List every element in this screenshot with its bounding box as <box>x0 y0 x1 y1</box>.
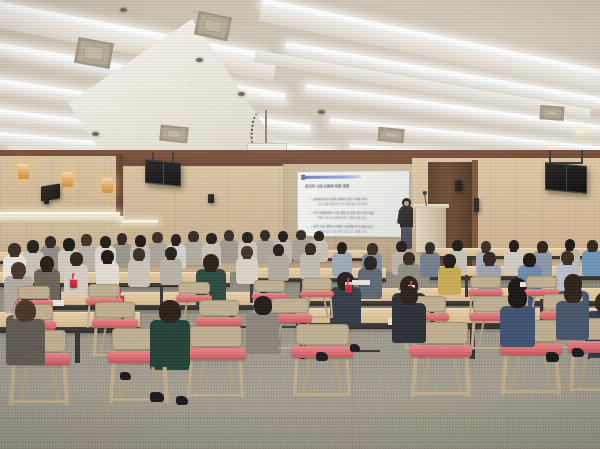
chair-seat-cushion <box>186 348 246 360</box>
shoe <box>316 352 328 361</box>
audience-member <box>64 252 88 296</box>
shoe <box>350 344 360 352</box>
chair-leg <box>477 320 485 350</box>
audience-member-torso <box>150 320 190 367</box>
chair-backrest <box>88 284 120 297</box>
desk-leg <box>75 327 80 363</box>
audience-member-head <box>561 251 574 264</box>
audience-member-head <box>63 238 75 251</box>
drink-cup <box>345 282 352 293</box>
audience-member-torso <box>268 254 289 281</box>
chair-backrest <box>95 302 135 318</box>
audience-member-torso <box>6 319 45 365</box>
audience-member-head <box>481 241 492 252</box>
audience-member-torso <box>330 287 361 326</box>
audience-member-head <box>337 242 348 253</box>
chair-leg <box>50 362 61 404</box>
audience-member-head <box>260 230 270 240</box>
audience-area <box>0 0 600 449</box>
audience-member <box>420 242 440 278</box>
audience-member-head <box>367 243 378 255</box>
chair-leg <box>195 357 205 397</box>
audience-member-head <box>11 262 27 278</box>
audience-member-foreground <box>556 284 589 344</box>
drink-cup <box>70 277 77 288</box>
audience-member-head <box>443 254 456 267</box>
audience-member-foreground <box>500 288 535 352</box>
audience-member-foreground <box>246 296 279 356</box>
chair-backrest <box>254 280 284 292</box>
handout-paper <box>352 280 370 285</box>
chair-backrest <box>18 286 50 299</box>
audience-member-head <box>305 243 316 255</box>
audience-member-head <box>70 252 83 266</box>
chair-leg <box>301 356 312 397</box>
audience-member-head <box>159 300 181 323</box>
audience-member-head <box>564 284 582 303</box>
audience-member-head <box>100 236 111 248</box>
chair-cross-brace <box>504 390 558 393</box>
audience-member-torso <box>500 306 535 348</box>
audience-member-head <box>224 230 234 241</box>
audience-member-head <box>242 232 252 243</box>
audience-member-head <box>135 235 146 247</box>
audience-member <box>268 244 289 282</box>
chair-cross-brace <box>296 393 349 396</box>
audience-member-head <box>101 250 114 263</box>
chair-backrest <box>296 324 349 345</box>
audience-member-head <box>565 239 576 250</box>
audience-member-head <box>117 233 128 244</box>
folding-chair[interactable] <box>186 326 246 399</box>
audience-member <box>160 247 182 286</box>
chair-leg <box>99 326 107 357</box>
audience-member-torso <box>392 303 426 343</box>
audience-member-head <box>425 242 436 253</box>
chair-backrest <box>199 300 239 316</box>
chair-cross-brace <box>414 392 468 395</box>
audience-member-head <box>15 300 36 322</box>
audience-member-head <box>203 254 219 271</box>
audience-member-torso <box>246 313 279 352</box>
chair-seat-cushion <box>300 291 334 298</box>
shoe <box>572 348 584 357</box>
audience-member <box>358 256 382 300</box>
audience-member-head <box>81 234 92 246</box>
chair-leg <box>118 360 129 402</box>
audience-member-head <box>152 232 163 243</box>
audience-member-head <box>165 247 177 259</box>
chair-seat-cushion <box>196 317 242 326</box>
audience-member-torso <box>300 253 320 279</box>
chair-backrest <box>190 326 242 347</box>
audience-member-foreground <box>150 300 190 372</box>
shoe <box>150 392 164 402</box>
audience-member-head <box>396 241 407 252</box>
audience-member-head <box>188 231 198 242</box>
lecture-hall-photograph: 전기차 시대 도래에 따른 영향 ○ 글로벌 완성차 업체 전동화 전환 가속화… <box>0 0 600 449</box>
audience-member-torso <box>128 259 150 287</box>
audience-member-head <box>133 248 145 261</box>
audience-member-foreground <box>6 300 45 370</box>
chair-seat-cushion <box>468 289 503 296</box>
chair-backrest <box>178 282 209 294</box>
chair-backrest <box>302 278 332 290</box>
audience-member-head <box>587 240 598 252</box>
audience-member-head <box>537 241 548 253</box>
audience-member-head <box>273 244 284 256</box>
chair-cross-brace <box>572 388 600 391</box>
audience-member-head <box>278 231 288 241</box>
chair-seat-cushion <box>92 319 138 328</box>
audience-member <box>582 240 600 277</box>
audience-member-foreground <box>392 286 426 348</box>
audience-member-head <box>452 240 463 251</box>
audience-member-head <box>171 234 182 245</box>
audience-member <box>300 243 320 280</box>
chair-backrest <box>470 276 500 288</box>
chair-leg <box>323 296 329 319</box>
audience-member-head <box>27 240 39 253</box>
chair-leg <box>333 356 344 397</box>
audience-member-head <box>403 252 415 265</box>
audience-member-head <box>296 230 306 240</box>
audience-member-head <box>314 231 324 241</box>
chair-cross-brace <box>12 400 66 403</box>
chair-backrest <box>526 276 556 288</box>
audience-member-torso <box>582 250 600 276</box>
audience-member-head <box>206 233 217 244</box>
audience-member-head <box>241 246 253 258</box>
chair-leg <box>420 354 431 396</box>
audience-member-head <box>364 256 377 270</box>
audience-member <box>438 254 461 296</box>
audience-member-torso <box>556 301 589 340</box>
audience-member-torso <box>420 252 440 277</box>
audience-member <box>128 248 150 288</box>
chair-leg <box>452 354 463 396</box>
audience-member-head <box>483 252 496 265</box>
audience-member-head <box>8 243 21 256</box>
shoe <box>546 352 559 362</box>
audience-member-head <box>508 288 527 308</box>
shoe <box>176 396 188 405</box>
audience-member-head <box>254 296 272 315</box>
audience-member-head <box>509 240 520 251</box>
audience-member-head <box>45 236 56 248</box>
audience-member-head <box>523 253 536 267</box>
audience-member-torso <box>438 266 461 295</box>
shoe <box>120 372 131 380</box>
audience-member-head <box>400 286 419 305</box>
chair-leg <box>226 357 236 397</box>
audience-member-head <box>40 256 54 271</box>
chair-leg <box>510 352 521 394</box>
